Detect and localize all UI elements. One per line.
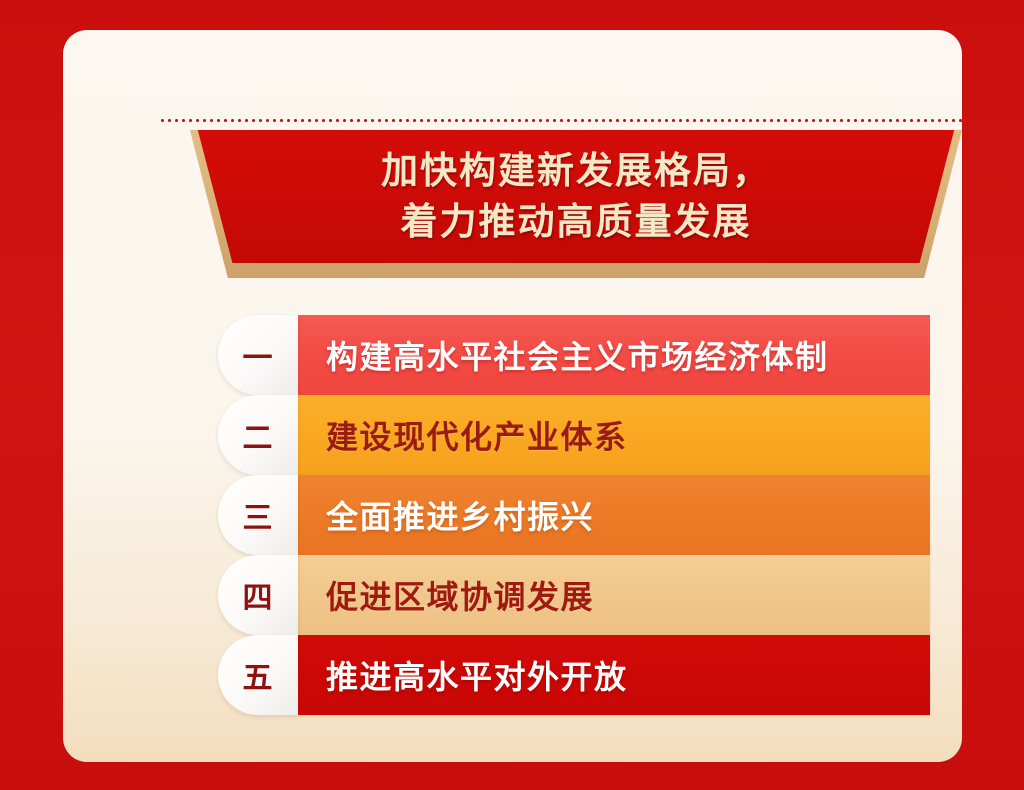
list-item-label: 全面推进乡村振兴 [326, 492, 594, 538]
numeral-badge: 二 [218, 395, 298, 475]
list-item-label: 推进高水平对外开放 [326, 652, 628, 698]
numeral-badge: 一 [218, 315, 298, 395]
list-item[interactable]: 三 全面推进乡村振兴 [218, 475, 930, 555]
list-item-body: 推进高水平对外开放 [298, 635, 930, 715]
dotted-divider [159, 118, 962, 123]
numeral-badge: 三 [218, 475, 298, 555]
list-item-label: 建设现代化产业体系 [326, 412, 628, 458]
banner-title-line-1: 加快构建新发展格局， [381, 148, 771, 195]
list-item[interactable]: 五 推进高水平对外开放 [218, 635, 930, 715]
list-item-label: 促进区域协调发展 [326, 572, 594, 618]
numeral-label: 一 [243, 333, 274, 377]
list-item[interactable]: 一 构建高水平社会主义市场经济体制 [218, 315, 930, 395]
list-item[interactable]: 四 促进区域协调发展 [218, 555, 930, 635]
numeral-badge: 四 [218, 555, 298, 635]
title-banner: 加快构建新发展格局， 着力推动高质量发展 [173, 130, 962, 278]
numeral-label: 三 [243, 493, 274, 537]
banner-text-group: 加快构建新发展格局， 着力推动高质量发展 [173, 130, 962, 263]
list-item-body: 促进区域协调发展 [298, 555, 930, 635]
list-item-body: 构建高水平社会主义市场经济体制 [298, 315, 930, 395]
list-item-label: 构建高水平社会主义市场经济体制 [326, 332, 829, 378]
numeral-badge: 五 [218, 635, 298, 715]
list-item-body: 全面推进乡村振兴 [298, 475, 930, 555]
points-list: 一 构建高水平社会主义市场经济体制 二 建设现代化产业体系 三 [218, 315, 930, 715]
numeral-label: 五 [243, 653, 274, 697]
numeral-label: 四 [243, 573, 274, 617]
numeral-label: 二 [243, 413, 274, 457]
list-item[interactable]: 二 建设现代化产业体系 [218, 395, 930, 475]
content-panel: 加快构建新发展格局， 着力推动高质量发展 一 构建高水平社会主义市场经济体制 二… [63, 30, 962, 762]
poster-root: 加快构建新发展格局， 着力推动高质量发展 一 构建高水平社会主义市场经济体制 二… [0, 0, 1024, 790]
banner-title-line-2: 着力推动高质量发展 [401, 199, 752, 246]
list-item-body: 建设现代化产业体系 [298, 395, 930, 475]
